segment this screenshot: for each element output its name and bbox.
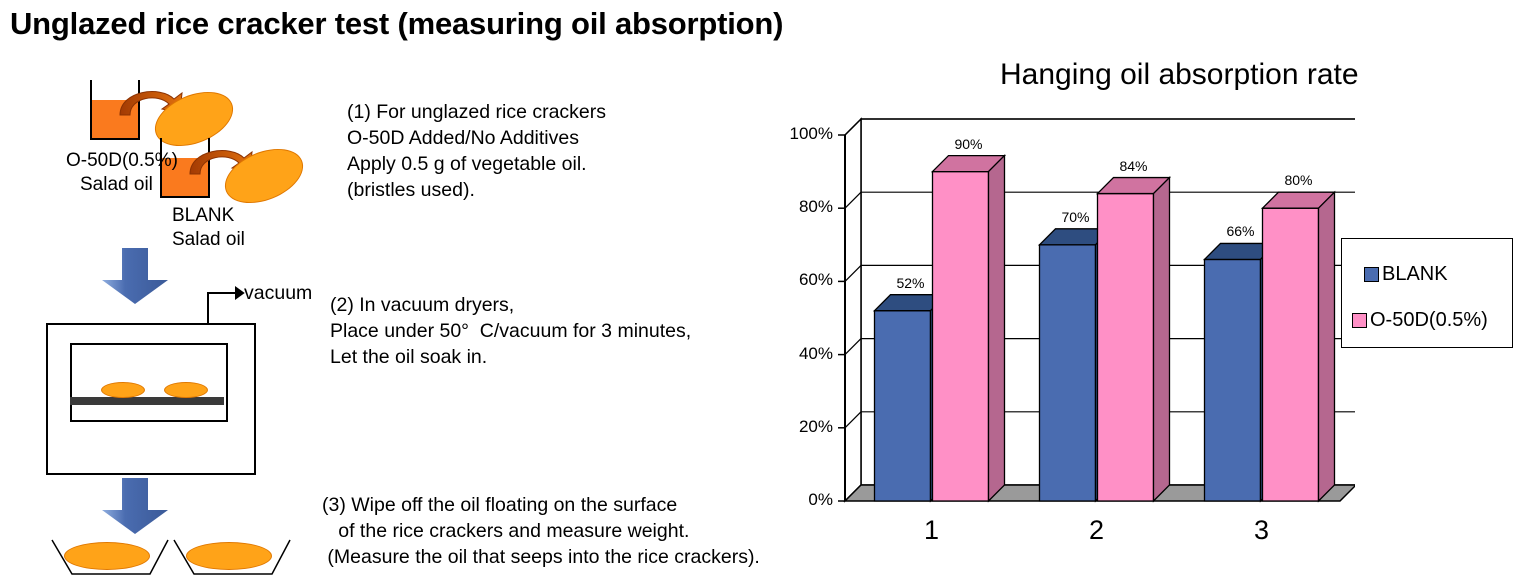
legend-swatch-blank (1364, 267, 1379, 282)
down-arrow-1-icon (100, 248, 170, 306)
down-arrow-2-icon (100, 478, 170, 536)
y-tick-label: 100% (773, 124, 833, 144)
bar-value-label: 70% (1046, 209, 1106, 225)
legend-label-o50d: O-50D(0.5%) (1370, 309, 1488, 332)
step-1-text: (1) For unglazed rice crackers O-50D Add… (347, 99, 606, 203)
y-tick-label: 60% (773, 270, 833, 290)
step-3-text: (3) Wipe off the oil floating on the sur… (322, 492, 760, 570)
chart-title: Hanging oil absorption rate (1000, 58, 1359, 92)
step-2-text: (2) In vacuum dryers, Place under 50° C/… (330, 292, 691, 370)
vacuum-pipe-vertical (207, 292, 209, 324)
y-tick-label: 40% (773, 344, 833, 364)
legend-label-blank: BLANK (1382, 263, 1448, 286)
beaker-bottom (90, 138, 140, 140)
page-title: Unglazed rice cracker test (measuring oi… (10, 6, 783, 42)
chart-panel: Hanging oil absorption rate 0%20%40%60%8… (795, 40, 1520, 570)
bar-value-label: 80% (1269, 172, 1329, 188)
legend-swatch-o50d (1352, 313, 1367, 328)
x-tick-label: 3 (1232, 515, 1292, 546)
chart-legend: BLANK O-50D(0.5%) (1341, 238, 1513, 348)
result-cracker-1 (64, 542, 150, 570)
beaker2-bottom (160, 196, 210, 198)
y-tick-label: 0% (773, 490, 833, 510)
vacuum-dryer-inner-tray (70, 343, 228, 422)
dryer-cracker-1 (101, 382, 145, 398)
bar-value-label: 84% (1104, 158, 1164, 174)
vacuum-label: vacuum (244, 282, 312, 305)
bar-value-label: 52% (881, 275, 941, 291)
bar-value-label: 66% (1211, 223, 1271, 239)
legend-item-blank[interactable]: BLANK (1364, 263, 1448, 286)
legend-item-o50d[interactable]: O-50D(0.5%) (1352, 309, 1488, 332)
label-o50d-sub: Salad oil (80, 174, 153, 196)
label-blank-sub: Salad oil (172, 229, 245, 251)
result-cracker-2 (186, 542, 272, 570)
vacuum-dryer-shelf (70, 397, 224, 405)
dryer-cracker-2 (164, 382, 208, 398)
x-tick-label: 2 (1067, 515, 1127, 546)
label-blank-name: BLANK (172, 205, 234, 227)
procedure-diagram: O-50D(0.5%) Salad oil BLANK Salad oil (1… (0, 60, 790, 584)
bar-value-label: 90% (939, 136, 999, 152)
y-tick-label: 80% (773, 197, 833, 217)
label-o50d-name: O-50D(0.5%) (66, 150, 178, 172)
y-tick-label: 20% (773, 417, 833, 437)
x-tick-label: 1 (902, 515, 962, 546)
